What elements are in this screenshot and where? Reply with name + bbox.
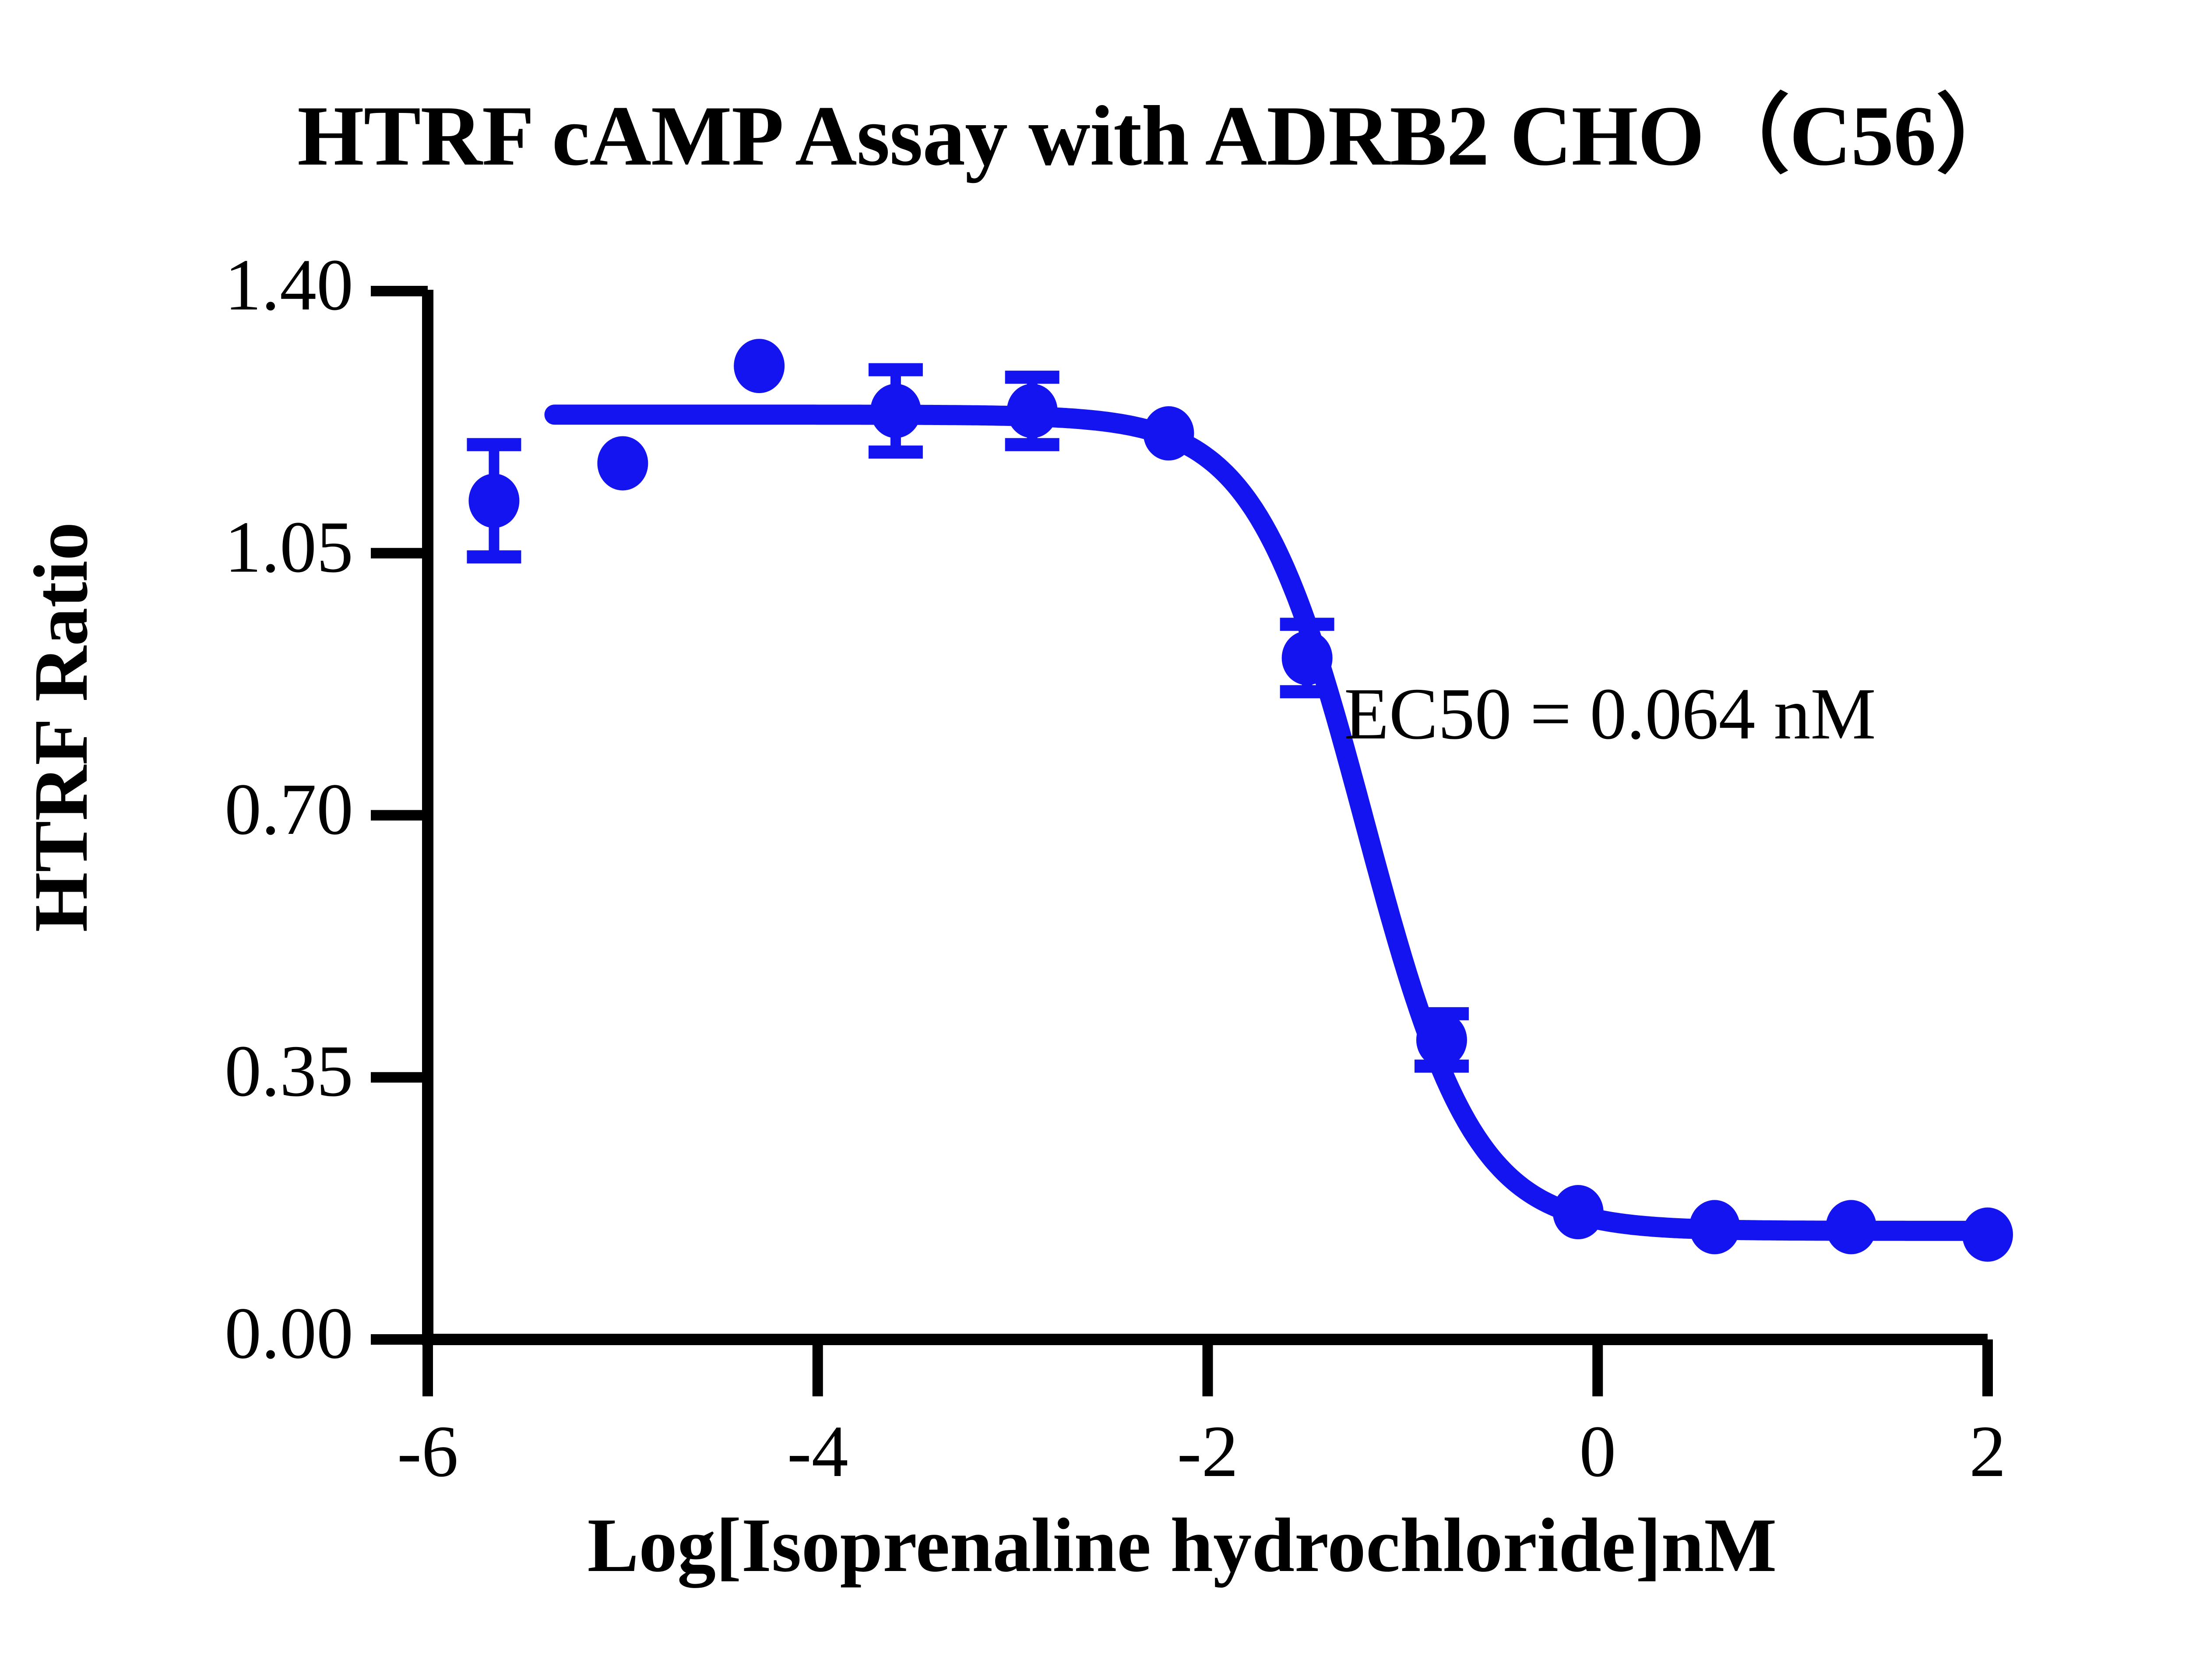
data-point[interactable] (597, 436, 648, 490)
ec50-annotation: EC50 = 0.064 nM (1344, 672, 1876, 756)
data-point[interactable] (1689, 1200, 1740, 1254)
data-point[interactable] (870, 384, 921, 438)
x-axis-tick-label: 2 (1900, 1409, 2075, 1494)
data-point[interactable] (1962, 1208, 2013, 1262)
fit-curve (555, 415, 1988, 1231)
x-axis-tick-label: -4 (730, 1409, 905, 1494)
x-axis-tick-label: -6 (340, 1409, 515, 1494)
data-point[interactable] (1143, 406, 1194, 460)
y-axis-tick-label: 0.00 (91, 1291, 353, 1376)
data-point[interactable] (468, 474, 519, 528)
y-axis-tick-label: 1.05 (91, 505, 353, 590)
x-axis-tick-label: -2 (1120, 1409, 1295, 1494)
data-point[interactable] (734, 339, 785, 393)
x-axis-tick-label: 0 (1510, 1409, 1685, 1494)
y-axis-tick-label: 0.70 (91, 767, 353, 852)
data-point[interactable] (1416, 1013, 1467, 1067)
data-point[interactable] (1282, 631, 1333, 685)
y-axis-tick-label: 0.35 (91, 1029, 353, 1114)
data-point[interactable] (1826, 1200, 1876, 1254)
chart-canvas: HTRF cAMP Assay with ADRB2 CHO（C56） HTRF… (0, 0, 2189, 1680)
fit-curve-group (555, 415, 1988, 1231)
data-point[interactable] (1007, 384, 1058, 438)
y-axis-tick-label: 1.40 (91, 243, 353, 327)
data-point[interactable] (1553, 1185, 1604, 1239)
